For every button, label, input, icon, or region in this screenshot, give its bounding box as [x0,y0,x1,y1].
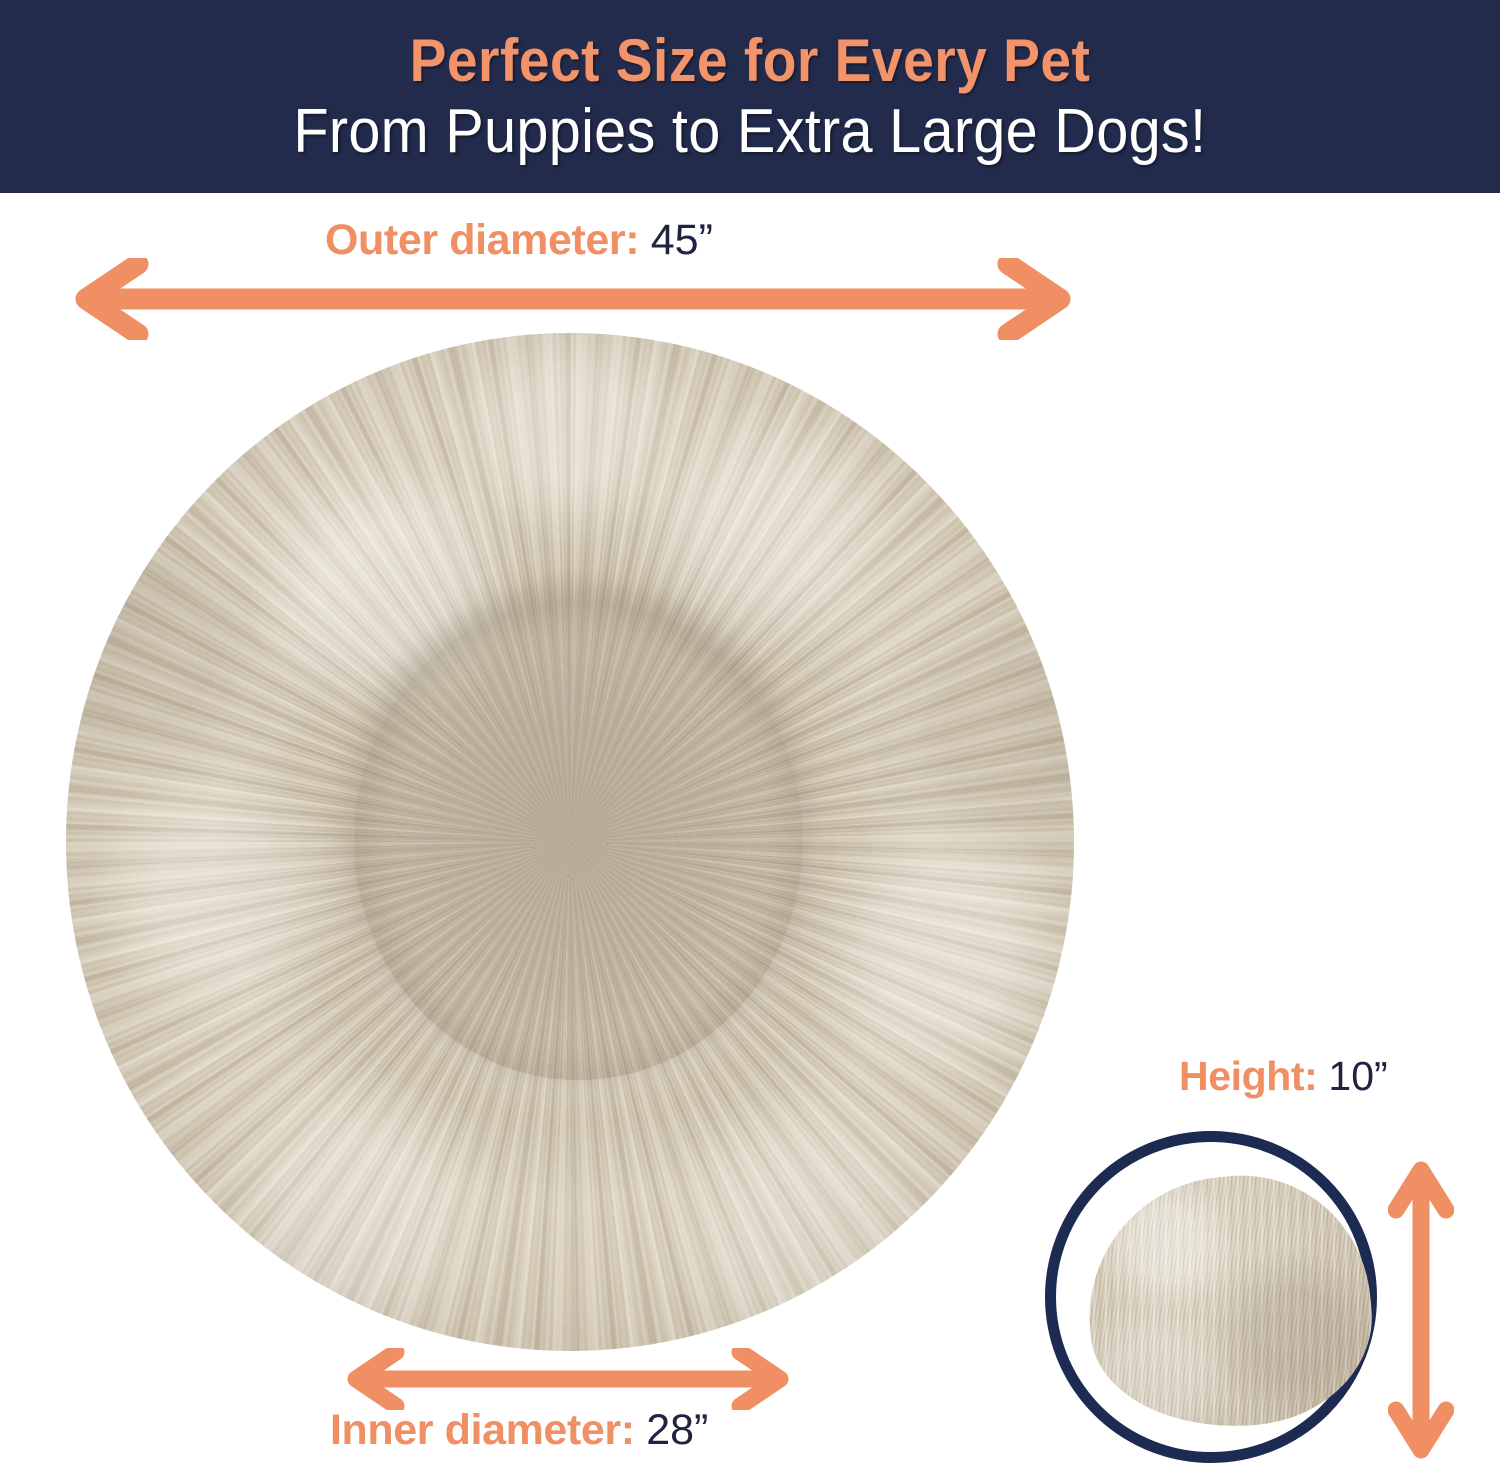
bed-edge-shading [66,333,1074,1351]
fur-highlight-layer [66,333,1074,1351]
inner-diameter-label: Inner diameter: 28” [330,1406,708,1454]
inner-diameter-arrow-icon [338,1348,798,1410]
height-value: 10” [1328,1053,1387,1099]
pet-bed-side-view [1076,1163,1383,1441]
outer-diameter-label: Outer diameter: 45” [325,216,713,264]
fur-texture-layer-a [66,333,1074,1351]
fur-texture-layer-b [66,333,1074,1351]
height-label-text: Height: [1179,1053,1317,1099]
infographic-page: Perfect Size for Every Pet From Puppies … [0,0,1500,1475]
pet-bed-top-view [66,333,1074,1351]
outer-diameter-arrow-icon [64,258,1082,340]
headline-secondary: From Puppies to Extra Large Dogs! [294,97,1207,167]
side-fur-highlight-layer [1076,1163,1383,1441]
outer-diameter-value: 45” [651,216,713,264]
height-label: Height: 10” [1179,1052,1388,1100]
inner-diameter-value: 28” [646,1406,708,1454]
headline-primary: Perfect Size for Every Pet [410,27,1091,95]
inner-diameter-label-text: Inner diameter: [330,1406,635,1454]
outer-diameter-label-text: Outer diameter: [325,216,639,264]
header-banner: Perfect Size for Every Pet From Puppies … [0,0,1500,193]
bed-outer-edge [66,333,1074,1351]
height-arrow-icon [1388,1152,1454,1468]
bed-inner-cushion [354,600,803,1080]
